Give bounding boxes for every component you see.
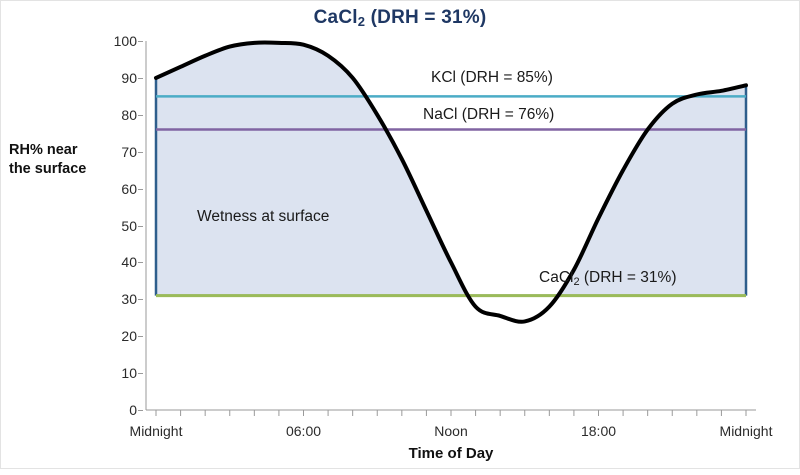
x-axis-tick-labels: Midnight06:00Noon18:00Midnight [1, 423, 800, 445]
annotation-wetness-at-surface: Wetness at surface [197, 208, 329, 226]
chart-svg [1, 1, 800, 470]
annotation-cacl2-rest: (DRH = 31%) [580, 269, 677, 286]
annotation-nacl: NaCl (DRH = 76%) [423, 106, 554, 124]
x-tick-label: Midnight [130, 423, 183, 439]
x-axis-title: Time of Day [156, 445, 746, 462]
x-tick-label: 18:00 [581, 423, 616, 439]
x-tick-label: 06:00 [286, 423, 321, 439]
plot-area [1, 1, 800, 470]
x-tick-label: Midnight [720, 423, 773, 439]
x-tick-label: Noon [434, 423, 467, 439]
annotation-cacl2-main: CaCl [539, 269, 573, 286]
chart-frame: CaCl2 (DRH = 31%) RH% near the surface 0… [0, 0, 800, 469]
annotation-cacl2: CaCl2 (DRH = 31%) [539, 269, 676, 288]
annotation-kcl: KCl (DRH = 85%) [431, 69, 553, 87]
